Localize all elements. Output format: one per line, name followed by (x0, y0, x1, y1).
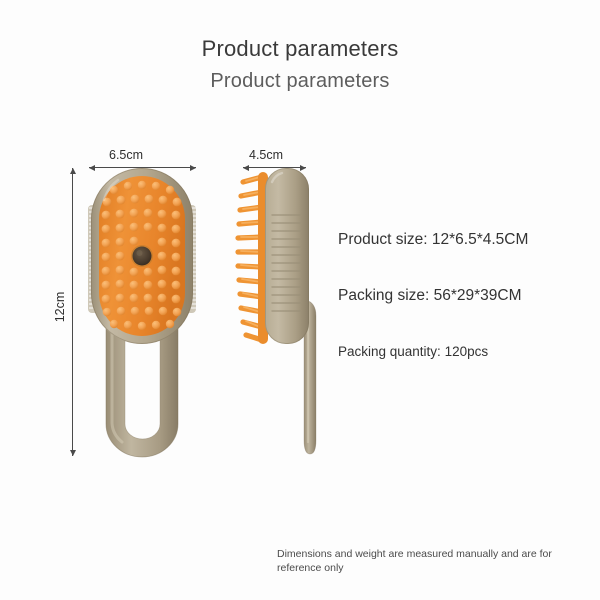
dimension-line-width-side (243, 167, 306, 168)
side-view-brush (238, 168, 316, 454)
dimension-label-height-front: 12cm (53, 287, 67, 327)
spec-product-size: Product size: 12*6.5*4.5CM (338, 231, 528, 249)
disclaimer-text: Dimensions and weight are measured manua… (277, 547, 577, 575)
dimension-line-height-front (72, 168, 73, 456)
product-parameters-page: Product parameters Product parameters (0, 0, 600, 600)
dimension-line-width-front (89, 167, 196, 168)
spec-packing-size: Packing size: 56*29*39CM (338, 287, 522, 305)
spec-packing-quantity: Packing quantity: 120pcs (338, 344, 488, 359)
front-center-hole (131, 245, 153, 267)
dimension-label-width-front: 6.5cm (109, 148, 143, 162)
side-bristles (238, 172, 268, 344)
side-body (265, 168, 309, 344)
front-view-brush (88, 168, 196, 457)
dimension-label-width-side: 4.5cm (249, 148, 283, 162)
